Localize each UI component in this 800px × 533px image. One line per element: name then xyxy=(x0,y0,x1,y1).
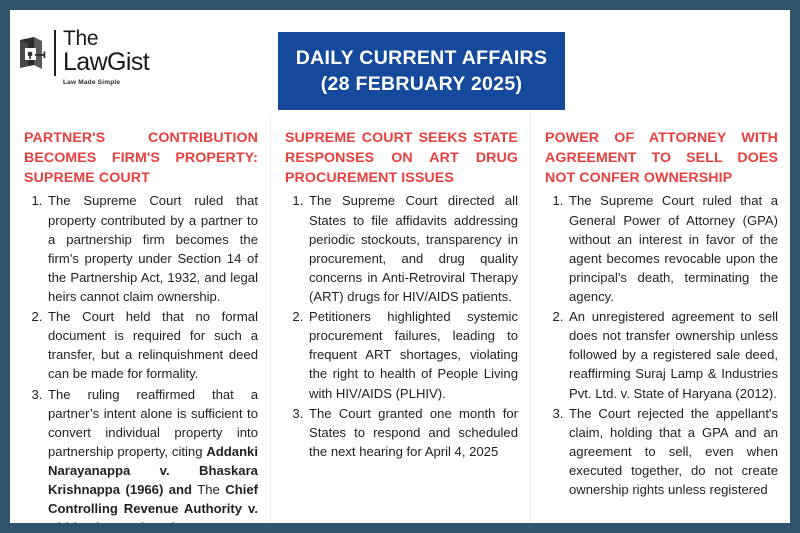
point-text: Petitioners highlighted systemic procure… xyxy=(309,309,518,400)
logo-divider xyxy=(54,30,56,76)
banner-title-line2: (28 FEBRUARY 2025) xyxy=(321,71,523,97)
list-item: The Supreme Court ruled that property co… xyxy=(46,191,258,306)
news-column-3: POWER OF ATTORNEY WITH AGREEMENT TO SELL… xyxy=(530,114,790,523)
list-item: The Court held that no formal document i… xyxy=(46,307,258,383)
column-heading: POWER OF ATTORNEY WITH AGREEMENT TO SELL… xyxy=(545,128,778,188)
list-item: An unregistered agreement to sell does n… xyxy=(567,307,778,403)
point-text: An unregistered agreement to sell does n… xyxy=(569,309,778,400)
list-item: The Supreme Court directed all States to… xyxy=(307,191,518,306)
point-text: The Supreme Court directed all States to… xyxy=(309,193,518,304)
law-book-icon xyxy=(16,35,50,71)
point-text: The ruling reaffirmed that a partner’s i… xyxy=(48,387,258,523)
banner-title-line1: DAILY CURRENT AFFAIRS xyxy=(296,45,548,71)
news-column-2: SUPREME COURT SEEKS STATE RESPONSES ON A… xyxy=(270,114,530,523)
point-text: The Supreme Court ruled that property co… xyxy=(48,193,258,304)
header: The LawGist Law Made Simple DAILY CURREN… xyxy=(10,10,790,114)
news-column-1: PARTNER'S CONTRIBUTION BECOMES FIRM'S PR… xyxy=(10,114,270,523)
title-banner: DAILY CURRENT AFFAIRS (28 FEBRUARY 2025) xyxy=(278,32,565,110)
column-points-list: The Supreme Court directed all States to… xyxy=(285,191,518,461)
brand-name-line2: LawGist xyxy=(63,50,149,75)
column-heading: SUPREME COURT SEEKS STATE RESPONSES ON A… xyxy=(285,128,518,188)
point-text: The Court rejected the appellant's claim… xyxy=(569,406,778,497)
column-points-list: The Supreme Court ruled that a General P… xyxy=(545,191,778,499)
point-text: The Court held that no formal document i… xyxy=(48,309,258,381)
point-text: The Court granted one month for States t… xyxy=(309,406,518,459)
brand-logo: The LawGist Law Made Simple xyxy=(16,28,149,87)
infographic-card: The LawGist Law Made Simple DAILY CURREN… xyxy=(10,10,790,523)
column-heading: PARTNER'S CONTRIBUTION BECOMES FIRM'S PR… xyxy=(24,128,258,188)
brand-name-line1: The xyxy=(63,28,149,49)
list-item: Petitioners highlighted systemic procure… xyxy=(307,307,518,403)
list-item: The ruling reaffirmed that a partner’s i… xyxy=(46,385,258,523)
list-item: The Court granted one month for States t… xyxy=(307,404,518,461)
column-points-list: The Supreme Court ruled that property co… xyxy=(24,191,258,523)
news-columns: PARTNER'S CONTRIBUTION BECOMES FIRM'S PR… xyxy=(10,114,790,523)
brand-tagline: Law Made Simple xyxy=(63,80,149,87)
brand-name: The LawGist Law Made Simple xyxy=(63,28,149,87)
point-text: The Supreme Court ruled that a General P… xyxy=(569,193,778,304)
list-item: The Court rejected the appellant's claim… xyxy=(567,404,778,500)
list-item: The Supreme Court ruled that a General P… xyxy=(567,191,778,306)
